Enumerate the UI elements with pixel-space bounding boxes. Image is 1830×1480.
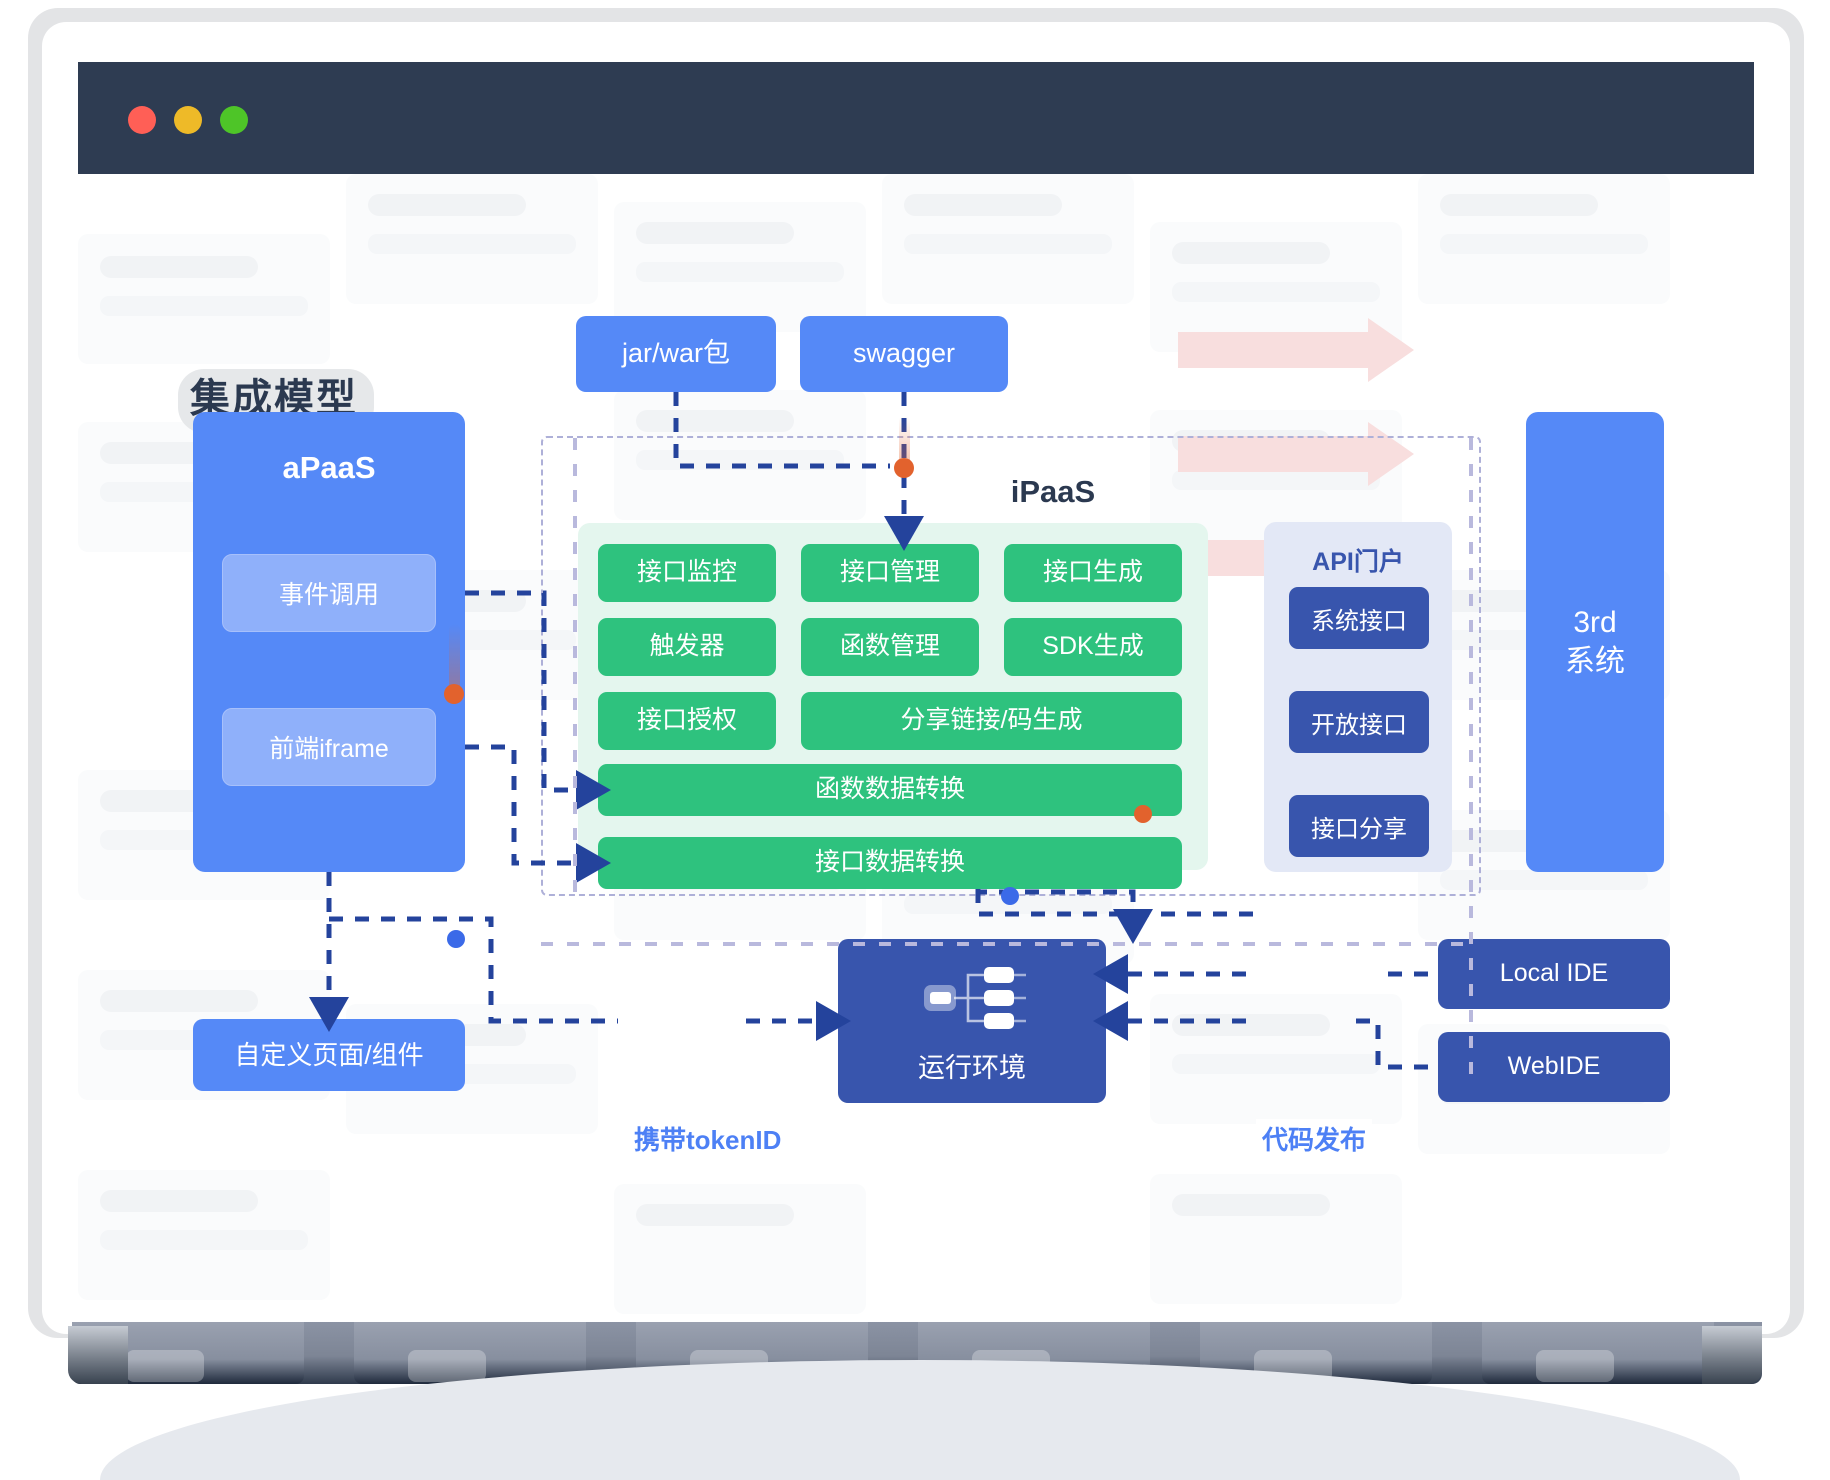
laptop-frame: 集成模型 iPaaS 接口监控 接口管理 接口生成 触 bbox=[0, 0, 1830, 1397]
minimize-icon[interactable] bbox=[174, 106, 202, 134]
diagram-canvas: 集成模型 iPaaS 接口监控 接口管理 接口生成 触 bbox=[78, 174, 1754, 1322]
edge-label-token: 携带tokenID bbox=[628, 1119, 787, 1158]
decor-dash-layer bbox=[78, 174, 1754, 1322]
laptop-base-edge-left bbox=[68, 1326, 128, 1384]
edge-label-deploy: 代码发布 bbox=[1256, 1119, 1372, 1158]
laptop-base-detail bbox=[1536, 1350, 1614, 1382]
laptop-base-edge-right bbox=[1702, 1326, 1762, 1384]
maximize-icon[interactable] bbox=[220, 106, 248, 134]
laptop-base-detail bbox=[126, 1350, 204, 1382]
window-titlebar bbox=[78, 62, 1754, 174]
close-icon[interactable] bbox=[128, 106, 156, 134]
browser-window: 集成模型 iPaaS 接口监控 接口管理 接口生成 触 bbox=[78, 62, 1754, 1322]
laptop-base-detail bbox=[408, 1350, 486, 1382]
